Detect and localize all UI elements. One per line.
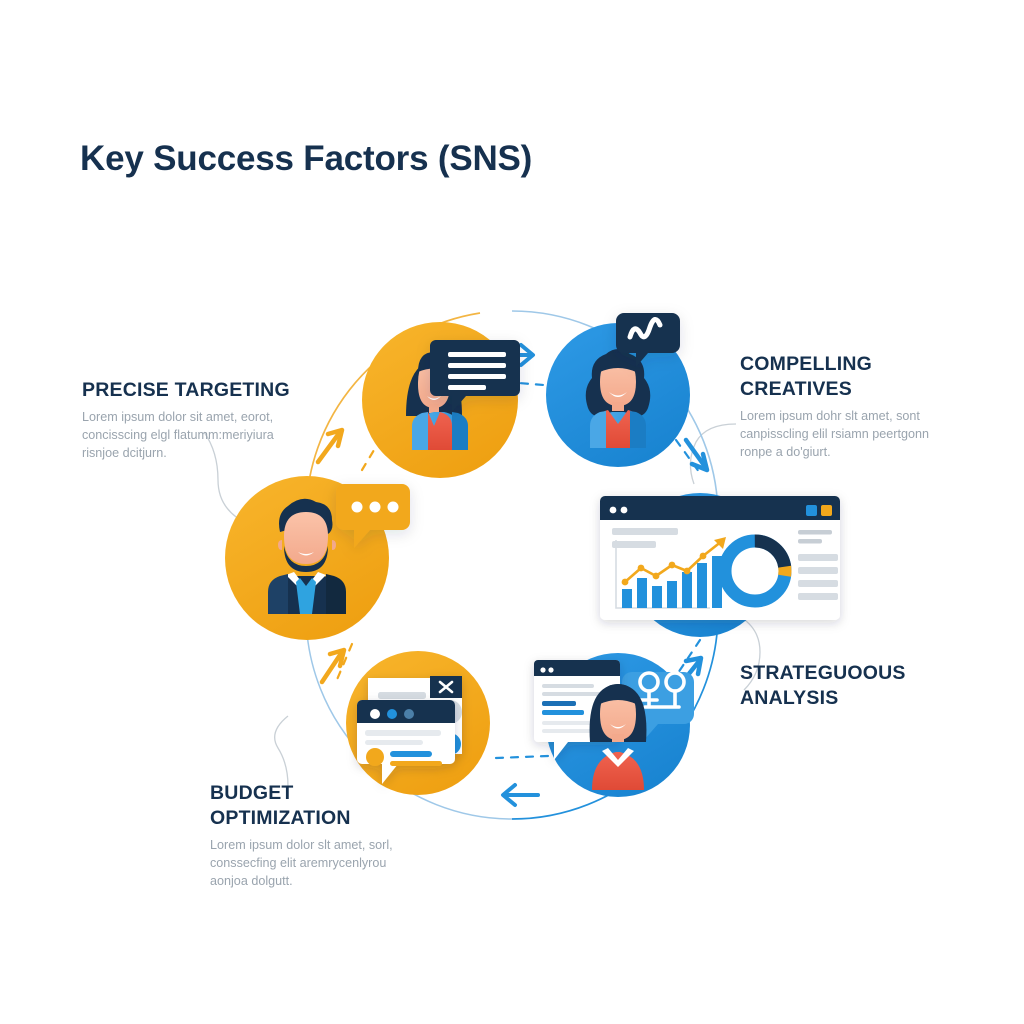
node-precise-targeting[interactable] — [362, 322, 520, 478]
label-body: Lorem ipsum dolor slt amet, sorl, consse… — [210, 836, 422, 891]
label-heading: STRATEGUOOUS ANALYSIS — [740, 661, 952, 711]
tab-yellow — [821, 505, 832, 516]
label-precise-targeting: PRECISE TARGETING Lorem ipsum dolor sit … — [82, 378, 290, 463]
label-strategic-analysis: STRATEGUOOUS ANALYSIS — [740, 661, 952, 716]
label-heading: COMPELLING CREATIVES — [740, 352, 948, 402]
node-engagement[interactable] — [534, 653, 694, 797]
arrow-left-up-lower — [322, 650, 344, 682]
infographic-canvas: Key Success Factors (SNS) — [0, 0, 1024, 1024]
label-heading: BUDGET OPTIMIZATION — [210, 781, 422, 831]
node-compelling-creatives[interactable] — [546, 313, 690, 467]
label-body: Lorem ipsum dolor sit amet, eorot, conci… — [82, 408, 290, 463]
label-budget-optimization: BUDGET OPTIMIZATION Lorem ipsum dolor sl… — [210, 781, 422, 891]
label-heading: PRECISE TARGETING — [82, 378, 290, 403]
arrow-right-down — [686, 440, 707, 470]
leader-line-budget-optimization — [275, 716, 288, 786]
female-red-top-avatar — [590, 684, 647, 790]
arrow-left-up-upper — [318, 430, 342, 462]
analytics-dashboard-window — [600, 496, 840, 620]
dash-bottom — [496, 756, 548, 758]
female-curly-hair-avatar — [586, 349, 651, 448]
tab-blue — [806, 505, 817, 516]
node-budget-optimization[interactable] — [346, 651, 490, 795]
label-compelling-creatives: COMPELLING CREATIVES Lorem ipsum dohr sl… — [740, 352, 948, 462]
label-body: Lorem ipsum dohr slt amet, sont canpissc… — [740, 407, 948, 462]
node-audience-insight[interactable] — [225, 476, 410, 640]
cycle-diagram — [0, 0, 1024, 1024]
node-strategic-analysis[interactable] — [600, 493, 840, 637]
arrow-bottom-left — [503, 785, 538, 805]
